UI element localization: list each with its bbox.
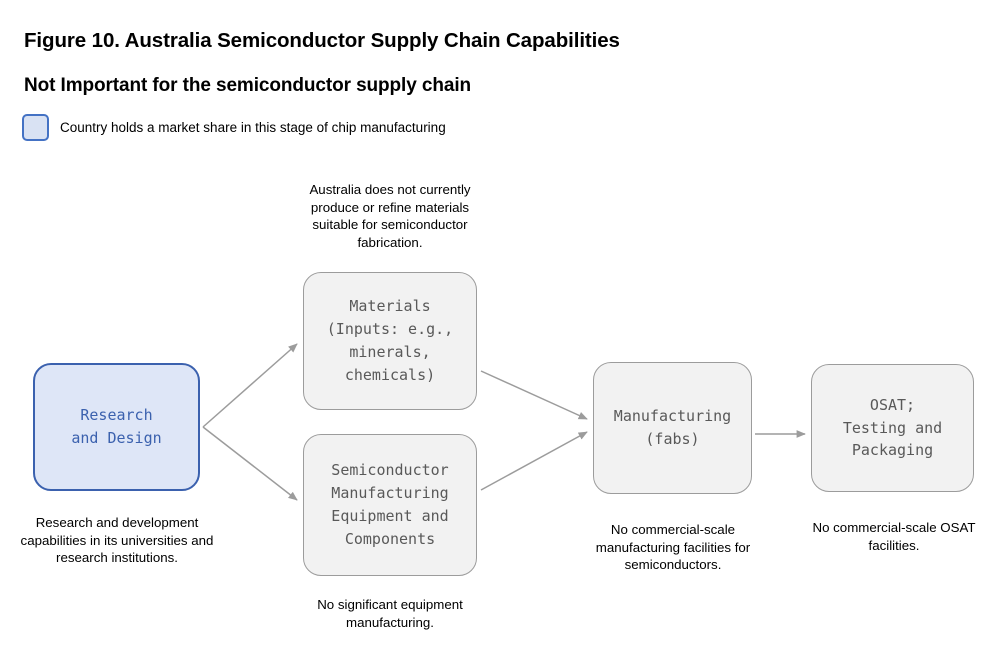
edge-materials-to-manufacturing: [481, 371, 587, 419]
figure-subtitle: Not Important for the semiconductor supp…: [24, 75, 471, 97]
edge-equipment-to-manufacturing: [481, 432, 587, 490]
node-osat-testing-and-packaging[interactable]: OSAT; Testing and Packaging: [811, 364, 974, 492]
node-materials-label: Materials (Inputs: e.g., minerals, chemi…: [327, 295, 453, 386]
node-semiconductor-manufacturing-equipment[interactable]: Semiconductor Manufacturing Equipment an…: [303, 434, 477, 576]
node-manufacturing-fabs-label: Manufacturing (fabs): [614, 405, 731, 451]
edge-research-to-equipment: [203, 427, 297, 500]
figure-title: Figure 10. Australia Semiconductor Suppl…: [24, 29, 620, 53]
caption-research-and-design: Research and development capabilities in…: [14, 514, 220, 567]
caption-semiconductor-manufacturing-equipment: No significant equipment manufacturing.: [296, 596, 484, 631]
legend-swatch-icon: [22, 114, 49, 141]
caption-osat-testing-and-packaging: No commercial-scale OSAT facilities.: [806, 519, 982, 554]
node-manufacturing-fabs[interactable]: Manufacturing (fabs): [593, 362, 752, 494]
legend-label: Country holds a market share in this sta…: [60, 120, 446, 135]
node-research-and-design[interactable]: Research and Design: [33, 363, 200, 491]
node-materials[interactable]: Materials (Inputs: e.g., minerals, chemi…: [303, 272, 477, 410]
edge-research-to-materials: [203, 344, 297, 427]
note-materials: Australia does not currently produce or …: [296, 181, 484, 252]
figure-container: Figure 10. Australia Semiconductor Suppl…: [0, 0, 1000, 657]
legend: Country holds a market share in this sta…: [22, 114, 446, 141]
node-osat-testing-and-packaging-label: OSAT; Testing and Packaging: [843, 394, 942, 462]
node-semiconductor-manufacturing-equipment-label: Semiconductor Manufacturing Equipment an…: [331, 459, 448, 550]
node-research-and-design-label: Research and Design: [71, 404, 161, 450]
caption-manufacturing-fabs: No commercial-scale manufacturing facili…: [588, 521, 758, 574]
